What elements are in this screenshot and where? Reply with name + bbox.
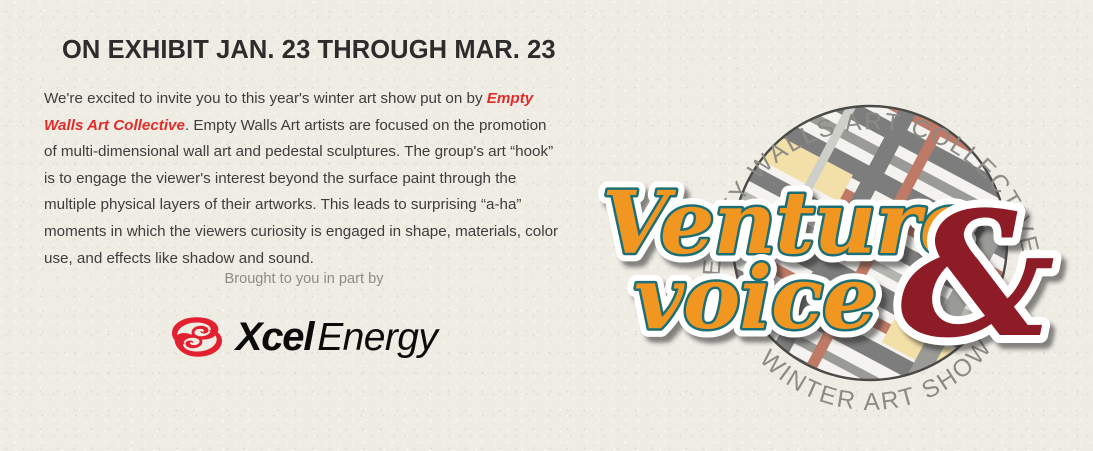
page-title: ON EXHIBIT JAN. 23 THROUGH MAR. 23 [62,36,564,64]
ampersand-glyph: & [900,173,1055,376]
energy-word: Energy [317,318,437,357]
ampersand-mark: & [900,173,1055,376]
sponsor-block: Brought to you in part by Xcel Energy [44,272,564,360]
venture-voice-logo-graphic: EMPTY WALLS ART COLLECTIVE WINTER ART SH… [592,38,1062,438]
xcel-word: Xcel [236,317,314,357]
description-part-one: We're excited to invite you to this year… [44,90,487,107]
exhibit-description: We're excited to invite you to this year… [44,86,560,272]
venture-voice-logo[interactable]: EMPTY WALLS ART COLLECTIVE WINTER ART SH… [592,38,1062,438]
voice-inner-outline: voice [634,248,876,349]
xcel-energy-wordmark: Xcel Energy [236,317,437,357]
script-word-voice: voice voice [634,248,876,349]
sponsor-label: Brought to you in part by [44,272,564,287]
xcel-swoosh-icon [171,314,223,360]
xcel-energy-logo[interactable]: Xcel Energy [44,314,564,360]
description-part-two: . Empty Walls Art artists are focused on… [44,117,558,267]
promo-banner: ON EXHIBIT JAN. 23 THROUGH MAR. 23 We're… [0,0,1093,451]
exhibit-copy-column: ON EXHIBIT JAN. 23 THROUGH MAR. 23 We're… [44,36,564,272]
